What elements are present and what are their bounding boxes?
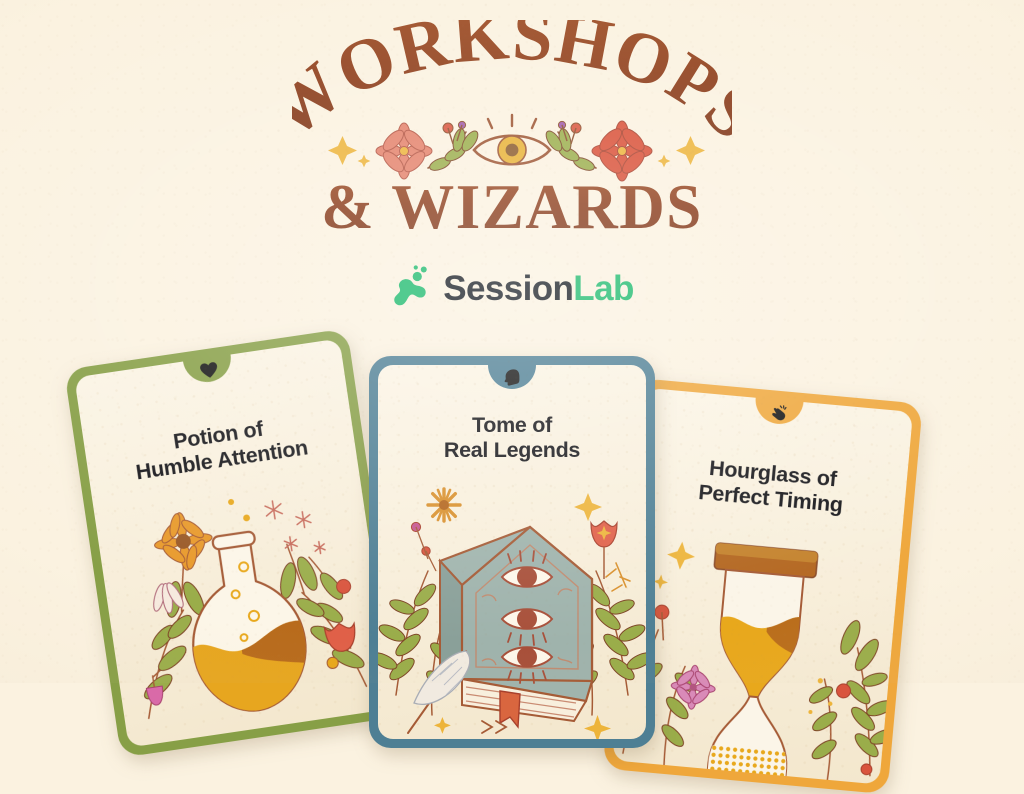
- tulip-icon: [324, 621, 358, 653]
- three-eyed-book-icon: [440, 527, 592, 727]
- card-potion-illustration: [91, 449, 394, 747]
- chevron-sprig-icon: [482, 721, 506, 733]
- clapping-hand-icon: [769, 404, 787, 421]
- card-potion-border: Potion of Humble Attention: [64, 328, 404, 758]
- card-tome-badge: [488, 365, 536, 389]
- card-tome-illustration: [378, 465, 646, 739]
- card-fan: Potion of Humble Attention: [0, 0, 1024, 683]
- star-flower-icon: [264, 494, 325, 560]
- heart-icon: [199, 361, 218, 379]
- card-potion-badge: [183, 354, 234, 386]
- card-hourglass-face: Hourglass of Perfect Timing: [612, 388, 913, 785]
- card-potion-face: Potion of Humble Attention: [74, 338, 394, 747]
- card-hourglass-illustration: [612, 499, 903, 784]
- star-daisy-icon: [428, 489, 460, 521]
- berry-icon: [411, 522, 436, 571]
- sprig-icon: [606, 563, 630, 591]
- card-tome-title-line1: Tome of: [378, 413, 646, 438]
- card-tome-title: Tome of Real Legends: [378, 413, 646, 463]
- daisy-flower-icon: [150, 508, 216, 575]
- card-hourglass-badge: [754, 397, 804, 426]
- hourglass-icon: [693, 543, 818, 785]
- bookmark-ribbon-icon: [500, 691, 520, 727]
- card-tome-title-line2: Real Legends: [378, 438, 646, 463]
- head-profile-icon: [504, 369, 520, 386]
- feather-quill-icon: [408, 651, 470, 733]
- card-tome-border: Tome of Real Legends: [369, 356, 655, 748]
